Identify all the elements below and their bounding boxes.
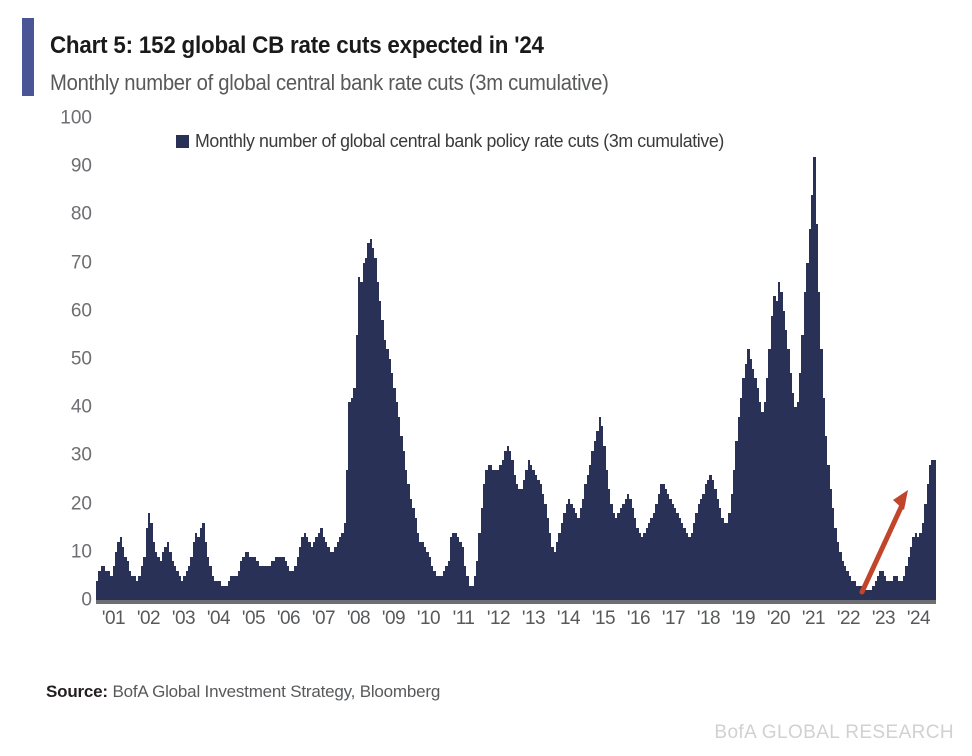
y-tick-label: 70 [0,253,92,272]
x-tick-label: '04 [201,608,236,642]
y-tick-label: 80 [0,205,92,224]
x-tick-label: '24 [901,608,936,642]
source-note: Source: BofA Global Investment Strategy,… [46,682,440,702]
y-tick-label: 60 [0,301,92,320]
x-tick-label: '19 [726,608,761,642]
x-tick-label: '02 [131,608,166,642]
source-label: Source: [46,682,108,701]
x-tick-label: '22 [831,608,866,642]
x-tick-label: '11 [446,608,481,642]
source-text: BofA Global Investment Strategy, Bloombe… [112,682,440,701]
legend-label: Monthly number of global central bank po… [195,130,724,152]
y-tick-label: 20 [0,494,92,513]
x-tick-label: '21 [796,608,831,642]
y-tick-label: 30 [0,446,92,465]
y-tick-label: 90 [0,157,92,176]
title-accent-bar [22,18,34,96]
page-title: Chart 5: 152 global CB rate cuts expecte… [50,32,544,60]
x-tick-label: '20 [761,608,796,642]
brand-footer: BofA GLOBAL RESEARCH [714,722,954,744]
plot-area [96,118,936,600]
x-tick-label: '13 [516,608,551,642]
x-tick-label: '05 [236,608,271,642]
x-tick-label: '23 [866,608,901,642]
x-tick-label: '14 [551,608,586,642]
y-tick-label: 0 [0,591,92,610]
chart-area: 0102030405060708090100 '01'02'03'04'05'0… [0,118,972,648]
x-axis-labels: '01'02'03'04'05'06'07'08'09'10'11'12'13'… [96,608,936,642]
x-tick-label: '06 [271,608,306,642]
y-tick-label: 100 [0,109,92,128]
x-tick-label: '07 [306,608,341,642]
chart-legend: Monthly number of global central bank po… [176,130,746,152]
chart-header: Chart 5: 152 global CB rate cuts expecte… [22,14,952,100]
x-tick-label: '16 [621,608,656,642]
legend-swatch-icon [176,135,189,148]
x-axis-line [96,600,936,604]
chart-page: Chart 5: 152 global CB rate cuts expecte… [0,0,972,756]
x-tick-label: '10 [411,608,446,642]
y-tick-label: 10 [0,542,92,561]
y-tick-label: 40 [0,398,92,417]
x-tick-label: '01 [96,608,131,642]
x-tick-label: '18 [691,608,726,642]
bar [934,460,936,600]
x-tick-label: '17 [656,608,691,642]
x-tick-label: '12 [481,608,516,642]
y-tick-label: 50 [0,350,92,369]
bar-series [96,118,936,600]
y-axis-labels: 0102030405060708090100 [0,118,92,608]
x-tick-label: '08 [341,608,376,642]
x-tick-label: '03 [166,608,201,642]
x-tick-label: '15 [586,608,621,642]
page-subtitle: Monthly number of global central bank ra… [50,70,609,96]
x-tick-label: '09 [376,608,411,642]
